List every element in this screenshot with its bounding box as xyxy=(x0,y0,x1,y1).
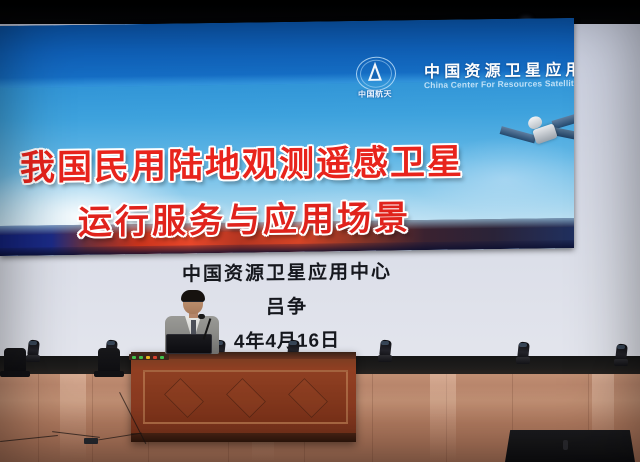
casc-logo-label: 中国航天 xyxy=(352,88,398,100)
slide-title-line1: 我国民用陆地观测遥感卫星 xyxy=(20,134,464,191)
casc-emblem-icon: 中国航天 xyxy=(352,56,398,103)
satellite-icon xyxy=(498,104,574,163)
slide-surface: 中国航天 中国资源卫星应用中心 China Center For Resourc… xyxy=(0,18,574,256)
projection-screen: 中国航天 中国资源卫星应用中心 China Center For Resourc… xyxy=(0,18,574,256)
podium-front-panel xyxy=(143,370,348,424)
cable-connector xyxy=(84,438,98,444)
photo-scene: 中国航天 中国资源卫星应用中心 China Center For Resourc… xyxy=(0,0,640,462)
stage-light-icon xyxy=(26,340,40,362)
stage-light-icon xyxy=(378,340,392,362)
microphone-icon xyxy=(198,314,205,319)
stage-speaker-left-2 xyxy=(98,348,120,372)
stage-speaker-left xyxy=(4,348,26,372)
podium xyxy=(131,352,356,442)
podium-control-panel[interactable] xyxy=(129,354,169,360)
stage-light-icon xyxy=(516,342,530,364)
slide-title-line2: 运行服务与应用场景 xyxy=(78,190,411,244)
stage-light-icon xyxy=(614,344,628,366)
floor-monitor-speaker xyxy=(505,430,635,462)
